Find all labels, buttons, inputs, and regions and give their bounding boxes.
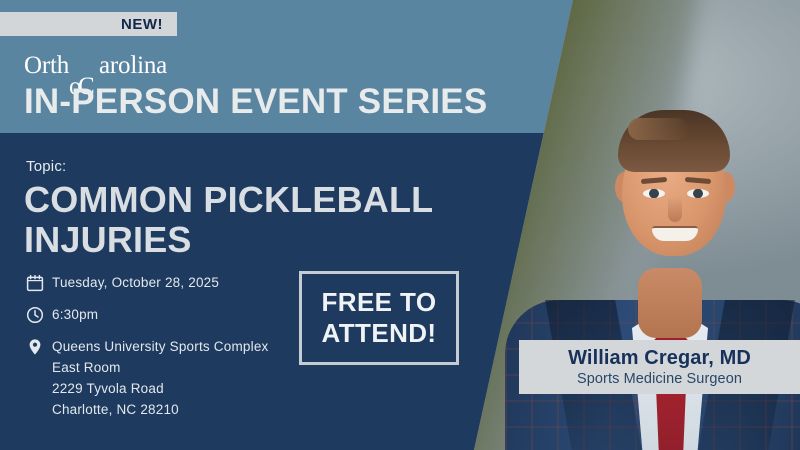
venue-line-1: Queens University Sports Complex <box>52 336 268 357</box>
free-to-attend-line-1: FREE TO <box>321 287 436 318</box>
logo-prefix: Orth <box>24 52 69 79</box>
free-to-attend-line-2: ATTEND! <box>322 318 437 349</box>
venue-line-3: 2229 Tyvola Road <box>52 378 268 399</box>
detail-location-text: Queens University Sports Complex East Ro… <box>52 336 268 420</box>
venue-line-2: East Room <box>52 357 268 378</box>
speaker-name: William Cregar, MD <box>568 346 751 370</box>
nose <box>668 196 682 222</box>
mouth <box>652 226 698 241</box>
clock-icon <box>26 304 52 326</box>
calendar-icon <box>26 272 52 294</box>
eye-right <box>687 189 709 198</box>
event-flyer: NEW! OrthoCarolina IN-PERSON EVENT SERIE… <box>0 0 800 450</box>
topic-label: Topic: <box>26 158 66 175</box>
eye-left <box>643 189 665 198</box>
series-title: IN-PERSON EVENT SERIES <box>24 82 487 122</box>
neck <box>638 268 702 338</box>
detail-row-location: Queens University Sports Complex East Ro… <box>26 336 296 420</box>
event-details: Tuesday, October 28, 2025 6:30pm Queens … <box>26 272 296 430</box>
logo-suffix: arolina <box>99 52 167 79</box>
free-to-attend-callout: FREE TO ATTEND! <box>299 271 459 365</box>
topic-title-line-1: COMMON PICKLEBALL <box>24 180 484 220</box>
detail-date-text: Tuesday, October 28, 2025 <box>52 272 219 293</box>
detail-row-date: Tuesday, October 28, 2025 <box>26 272 296 294</box>
map-pin-icon <box>26 336 52 358</box>
new-badge-label: NEW! <box>121 16 163 33</box>
orthocarolina-logo: OrthoCarolina <box>24 52 167 80</box>
speaker-role: Sports Medicine Surgeon <box>577 370 742 389</box>
topic-title-line-2: INJURIES <box>24 220 484 260</box>
hair <box>618 110 730 172</box>
venue-line-4: Charlotte, NC 28210 <box>52 399 268 420</box>
topic-title: COMMON PICKLEBALL INJURIES <box>24 180 484 261</box>
speaker-name-banner: William Cregar, MD Sports Medicine Surge… <box>519 340 800 394</box>
detail-time-text: 6:30pm <box>52 304 98 325</box>
detail-row-time: 6:30pm <box>26 304 296 326</box>
new-badge: NEW! <box>0 12 177 36</box>
